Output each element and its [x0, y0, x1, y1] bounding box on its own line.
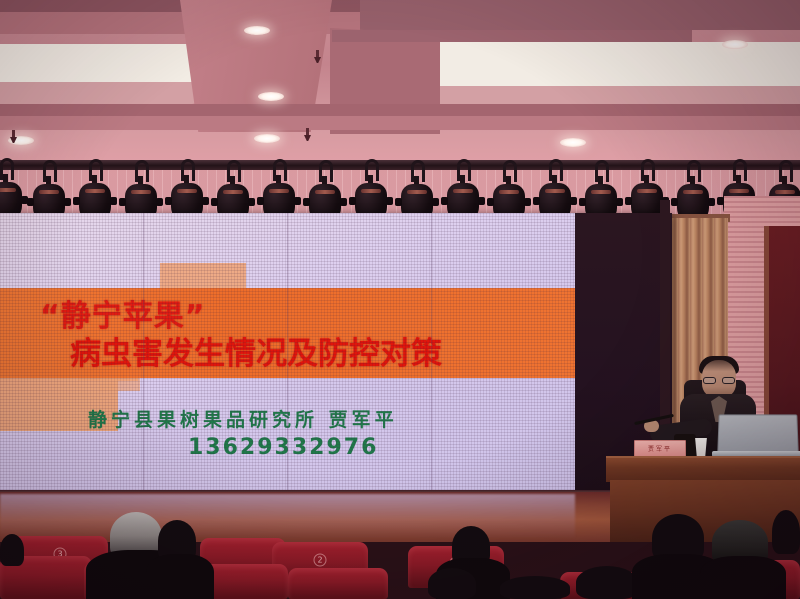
- sprinkler-head: [304, 128, 311, 144]
- audience-person: [0, 534, 24, 566]
- speaker-name-card: 贾军平: [634, 440, 686, 457]
- seat[interactable]: [288, 568, 388, 599]
- ceiling: [0, 0, 800, 162]
- audience-person: [772, 510, 800, 554]
- eyeglasses-icon: [703, 377, 735, 384]
- audience-seating: 3 2 5 2: [0, 516, 800, 599]
- recessed-downlight: [258, 92, 284, 101]
- seat-number: 2: [314, 553, 327, 566]
- audience-person: [500, 576, 570, 599]
- audience-person: [700, 556, 786, 599]
- audience-person: [576, 566, 638, 599]
- podium-desktop: [606, 456, 800, 482]
- sprinkler-head: [314, 50, 321, 66]
- lighting-truss: [0, 160, 800, 170]
- recessed-downlight: [560, 138, 586, 147]
- laptop-screen[interactable]: [717, 414, 798, 452]
- slide-title-line2: 病虫害发生情况及防控对策: [70, 328, 442, 373]
- recessed-downlight: [254, 134, 280, 143]
- podium-area: 贾军平: [606, 352, 800, 542]
- recessed-downlight: [722, 40, 748, 49]
- slide-phone-number: 13629332976: [188, 435, 378, 460]
- audience-person: [146, 554, 214, 599]
- slide-subtitle: 静宁县果树果品研究所 贾军平: [88, 405, 398, 432]
- sprinkler-head: [10, 130, 17, 146]
- audience-person: [428, 568, 476, 599]
- presentation-slide: “静宁苹果” 病虫害发生情况及防控对策 静宁县果树果品研究所 贾军平 13629…: [0, 213, 575, 496]
- conference-hall-scene: “静宁苹果” 病虫害发生情况及防控对策 静宁县果树果品研究所 贾军平 13629…: [0, 0, 800, 599]
- ceiling-light-panel-right: [432, 42, 800, 86]
- recessed-downlight: [244, 26, 270, 35]
- led-display-wall[interactable]: “静宁苹果” 病虫害发生情况及防控对策 静宁县果树果品研究所 贾军平 13629…: [0, 213, 672, 496]
